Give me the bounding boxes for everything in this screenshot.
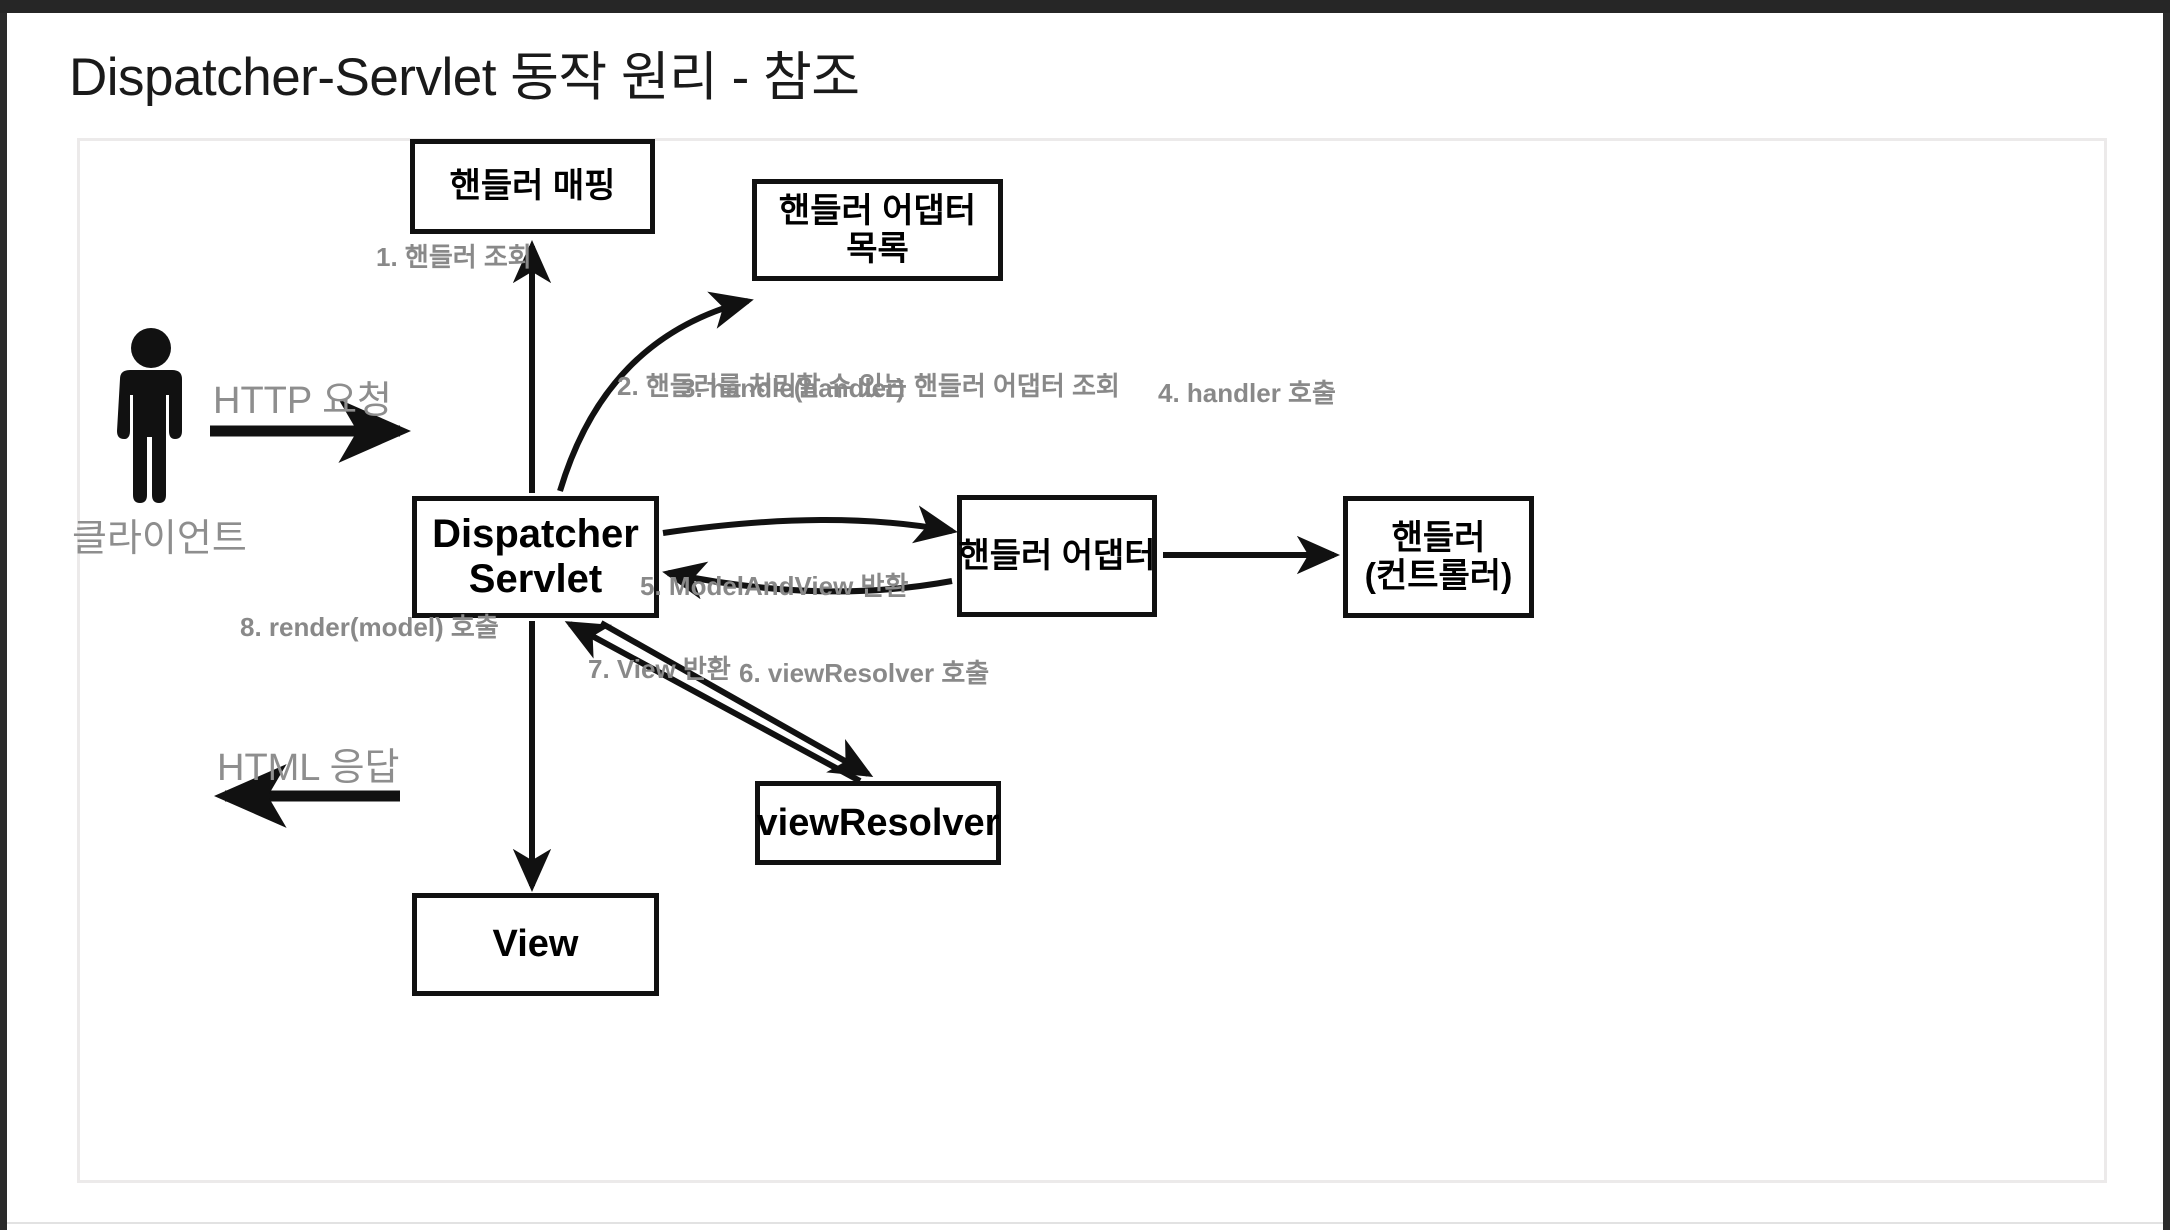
- node-view-resolver[interactable]: viewResolver: [755, 781, 1001, 865]
- node-handler-adapter-list-line-1: 핸들러 어댑터: [779, 192, 976, 230]
- document-page: Dispatcher-Servlet 동작 원리 - 참조: [7, 13, 2163, 1230]
- node-handler-controller-line-1: 핸들러: [1392, 519, 1486, 557]
- label-client: 클라이언트: [72, 507, 247, 562]
- label-step-4: 4. handler 호출: [1158, 373, 1336, 410]
- node-dispatcher-servlet-line-1: Dispatcher: [432, 512, 639, 557]
- node-handler-controller-line-2: (컨트롤러): [1365, 557, 1513, 595]
- label-step-3: 3. handle(handler): [681, 373, 905, 404]
- window-title-bar: [0, 0, 2170, 13]
- page-title: Dispatcher-Servlet 동작 원리 - 참조: [69, 35, 860, 111]
- node-handler-mapping-line-1: 핸들러 매핑: [450, 167, 616, 205]
- arrow-step-6: [601, 623, 868, 774]
- arrow-step-3: [663, 520, 952, 533]
- node-view-resolver-line-1: viewResolver: [757, 802, 1000, 845]
- window-right-edge: [2163, 13, 2170, 1230]
- node-handler-adapter-list[interactable]: 핸들러 어댑터 목록: [752, 179, 1003, 281]
- node-dispatcher-servlet-line-2: Servlet: [469, 557, 602, 602]
- node-handler-adapter[interactable]: 핸들러 어댑터: [957, 495, 1157, 617]
- label-step-5: 5. ModelAndView 반환: [640, 566, 908, 603]
- arrow-step-7: [570, 624, 860, 781]
- node-handler-mapping[interactable]: 핸들러 매핑: [410, 139, 655, 234]
- node-dispatcher-servlet[interactable]: Dispatcher Servlet: [412, 496, 659, 618]
- label-http-request: HTTP 요청: [213, 369, 392, 424]
- node-handler-controller[interactable]: 핸들러 (컨트롤러): [1343, 496, 1534, 618]
- node-handler-adapter-list-line-2: 목록: [846, 230, 909, 268]
- label-step-1: 1. 핸들러 조회: [376, 237, 532, 274]
- label-step-7: 7. View 반환: [588, 649, 731, 686]
- window-left-edge: [0, 13, 7, 1230]
- dispatcher-servlet-flow-diagram: 핸들러 매핑 핸들러 어댑터 목록 Dispatcher Servlet 핸들러…: [80, 141, 2104, 1180]
- node-view-line-1: View: [493, 923, 579, 966]
- node-handler-adapter-line-1: 핸들러 어댑터: [958, 537, 1155, 575]
- label-step-6: 6. viewResolver 호출: [739, 653, 989, 690]
- node-view[interactable]: View: [412, 893, 659, 996]
- label-http-response: HTML 응답: [217, 736, 400, 791]
- diagram-frame: 핸들러 매핑 핸들러 어댑터 목록 Dispatcher Servlet 핸들러…: [77, 138, 2107, 1183]
- diagram-arrows-layer: [80, 141, 2104, 1180]
- label-step-8: 8. render(model) 호출: [240, 607, 499, 644]
- client-person-icon: [108, 327, 194, 503]
- page-bottom-rule: [7, 1222, 2163, 1224]
